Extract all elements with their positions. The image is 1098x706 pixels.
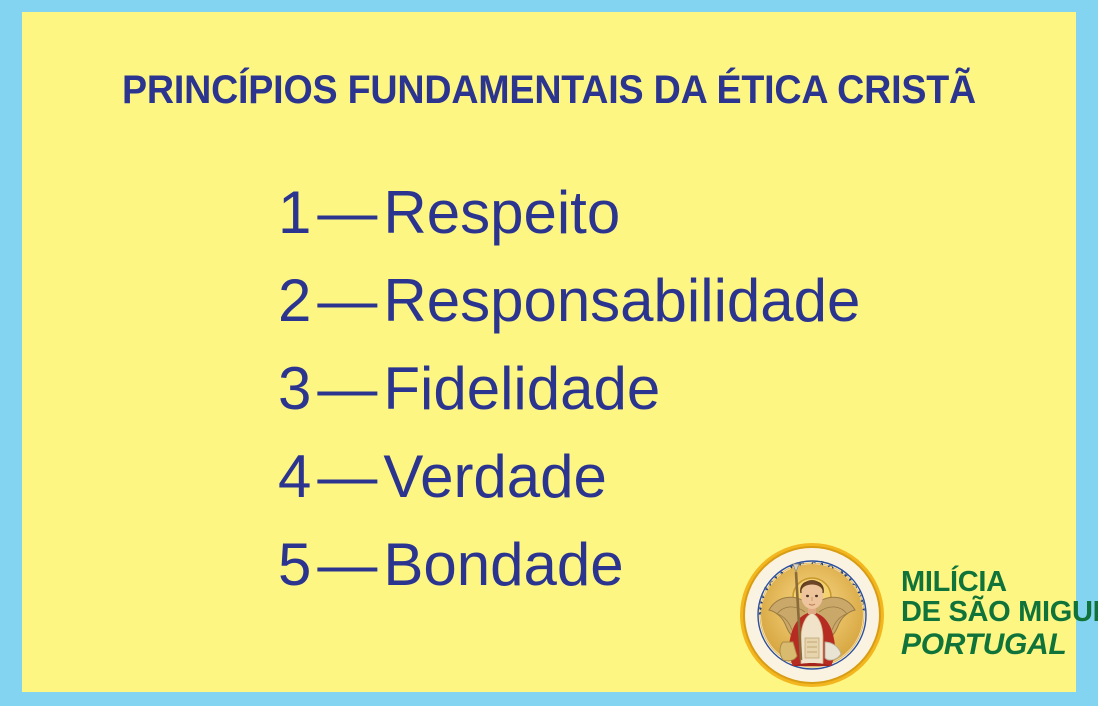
- list-item-separator: —: [311, 444, 383, 510]
- list-item-label: Verdade: [383, 444, 607, 510]
- poster: PRINCÍPIOS FUNDAMENTAIS DA ÉTICA CRISTÃ …: [0, 0, 1098, 706]
- list-item-separator: —: [311, 356, 383, 422]
- logo-line-de-sao-miguel: DE SÃO MIGUEL: [901, 598, 1098, 628]
- list-item: 3 — Fidelidade: [278, 356, 1038, 444]
- list-item-number: 5: [278, 532, 311, 598]
- saint-michael-emblem-icon: MILÍCIA DE SÃO MIGUEL MOLDAR A TERRA À I…: [739, 542, 885, 688]
- list-item: 2 — Responsabilidade: [278, 268, 1038, 356]
- organization-logo: MILÍCIA DE SÃO MIGUEL MOLDAR A TERRA À I…: [717, 527, 1077, 702]
- list-item-number: 2: [278, 268, 311, 334]
- list-item-separator: —: [311, 180, 383, 246]
- logo-line-milicia: MILÍCIA: [901, 568, 1098, 598]
- list-item-number: 1: [278, 180, 311, 246]
- list-item-label: Respeito: [383, 180, 620, 246]
- page-title: PRINCÍPIOS FUNDAMENTAIS DA ÉTICA CRISTÃ: [54, 68, 1045, 113]
- list-item: 4 — Verdade: [278, 444, 1038, 532]
- list-item-number: 3: [278, 356, 311, 422]
- logo-line-portugal: PORTUGAL: [901, 630, 1098, 661]
- list-item-label: Fidelidade: [383, 356, 660, 422]
- list-item-label: Responsabilidade: [383, 268, 860, 334]
- list-item-number: 4: [278, 444, 311, 510]
- list-item-separator: —: [311, 268, 383, 334]
- poster-canvas: PRINCÍPIOS FUNDAMENTAIS DA ÉTICA CRISTÃ …: [22, 12, 1076, 692]
- logo-wordmark: MILÍCIA DE SÃO MIGUEL PORTUGAL: [901, 568, 1098, 661]
- list-item-separator: —: [311, 532, 383, 598]
- list-item-label: Bondade: [383, 532, 623, 598]
- list-item: 1 — Respeito: [278, 180, 1038, 268]
